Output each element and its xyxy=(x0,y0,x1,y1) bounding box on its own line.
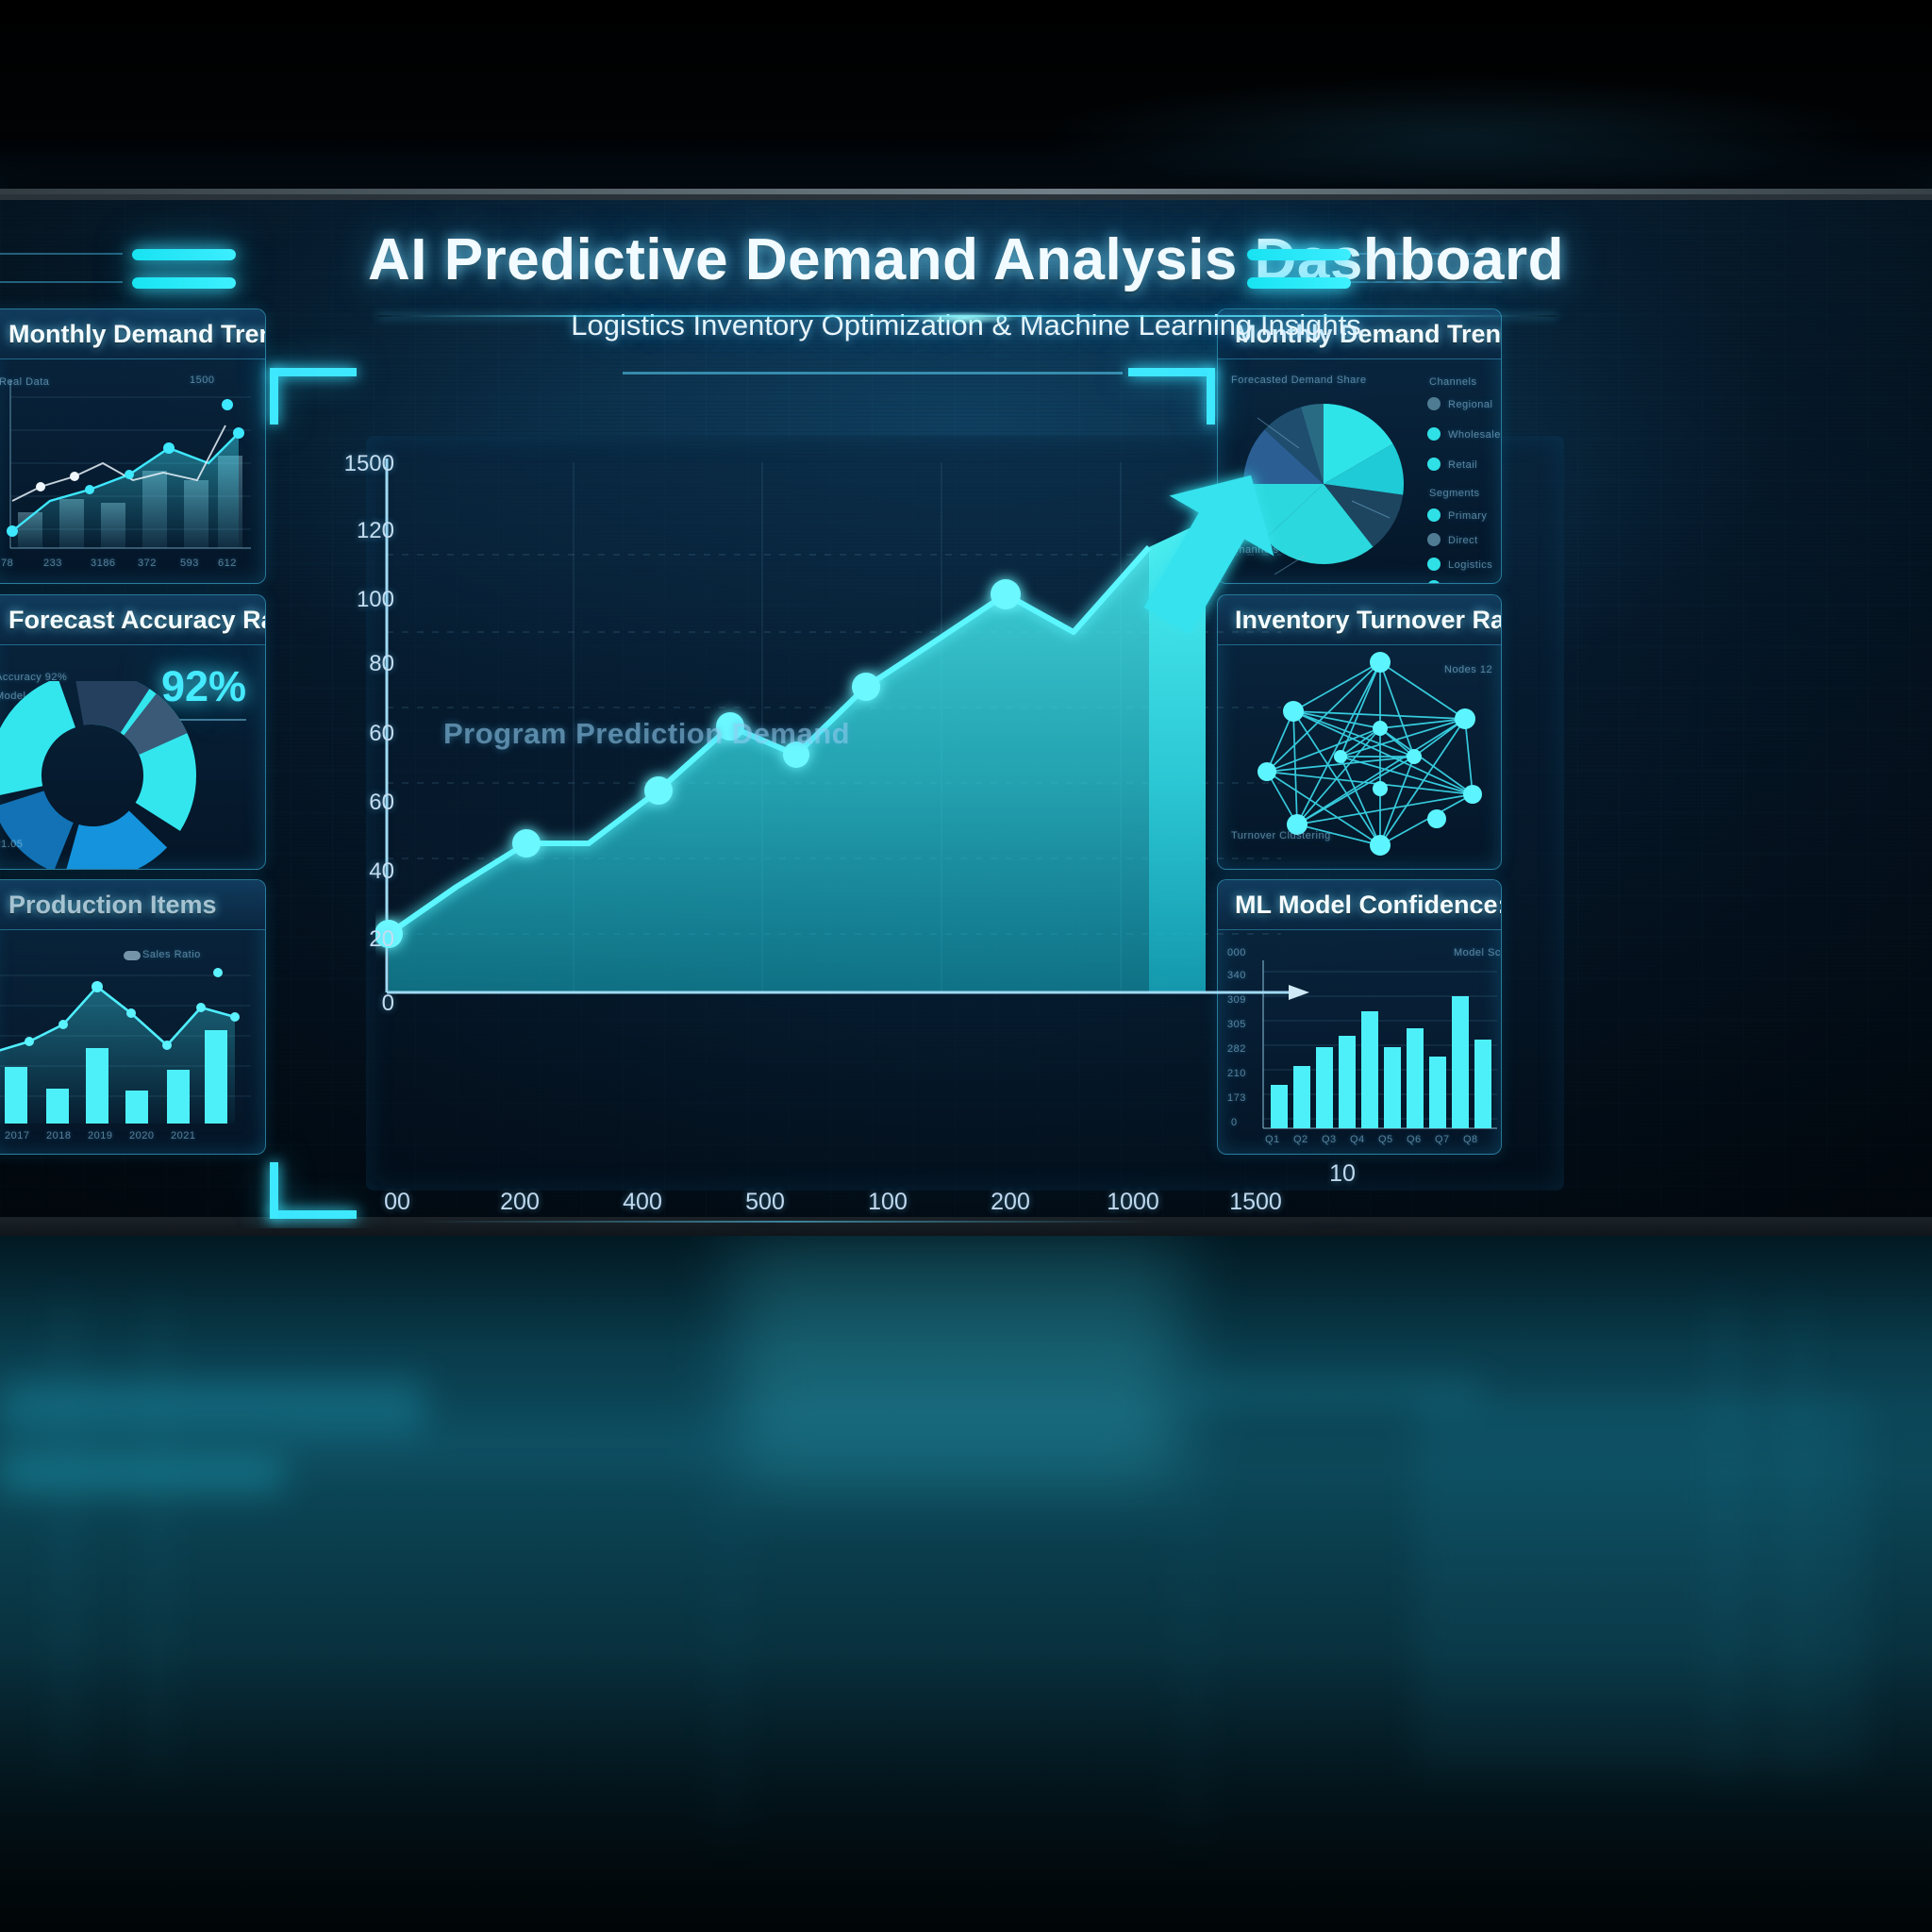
legend-item-1: Regional xyxy=(1448,399,1492,410)
legend-item-5: Direct xyxy=(1448,535,1478,546)
panel-legend-label: Real Data xyxy=(0,376,49,388)
legend-item-4: Primary xyxy=(1448,510,1487,522)
main-y-tick-4: 60 xyxy=(328,721,394,747)
donut-chart xyxy=(0,681,204,870)
main-x-tick-3: 500 xyxy=(713,1189,817,1216)
main-y-tick-6: 40 xyxy=(328,858,394,885)
panel-body: Sales Ratio xyxy=(0,930,265,1155)
x-label-4: 593 xyxy=(180,558,199,569)
main-y-tick-3: 80 xyxy=(328,651,394,677)
panel-title: Production Items xyxy=(8,891,217,920)
panel-forecast-accuracy-rate[interactable]: Forecast Accuracy Rate Accuracy 92% Mode… xyxy=(0,594,266,870)
panel-header: Forecast Accuracy Rate xyxy=(0,595,265,645)
y-label-6: 173 xyxy=(1227,1092,1246,1104)
hud-bar-left-1 xyxy=(132,249,236,260)
main-y-tick-8: 0 xyxy=(328,991,394,1017)
panel-monthly-demand-trend-left[interactable]: Monthly Demand Trend Real Data 1500 xyxy=(0,308,266,584)
legend-item-2: Wholesale xyxy=(1448,429,1501,441)
main-chart-title: Program Prediction Demand xyxy=(443,717,850,751)
legend-group-2-title: Segments xyxy=(1429,488,1480,499)
main-y-tick-5: 60 xyxy=(328,790,394,816)
panel-body: Accuracy 92% Model Stable 92% v1.05 xyxy=(0,645,265,870)
main-y-tick-1: 120 xyxy=(328,518,394,544)
x-label-0: Q1 xyxy=(1265,1134,1280,1145)
legend-dot-icon-6 xyxy=(1427,558,1441,571)
left-chart-bar-line xyxy=(0,930,265,1155)
x-label-5: 612 xyxy=(218,558,237,569)
legend-item-6: Logistics xyxy=(1448,559,1492,571)
x-label-1: Q2 xyxy=(1293,1134,1308,1145)
bezel-highlight xyxy=(0,189,1932,194)
main-x-tick-6: 1000 xyxy=(1081,1189,1185,1216)
legend-group-1-title: Channels xyxy=(1429,376,1476,388)
panel-header: Production Items xyxy=(0,880,265,930)
x-label-1: 2018 xyxy=(46,1130,71,1141)
panel-corner-value: 1500 xyxy=(190,375,214,386)
legend-dot-icon-4 xyxy=(1427,508,1441,522)
hud-bar-left-2 xyxy=(132,277,236,289)
dashboard-header: AI Predictive Demand Analysis Dashboard … xyxy=(0,226,1932,342)
legend-item-7: Other xyxy=(1448,582,1476,584)
x-label-0: 78 xyxy=(1,558,13,569)
left-chart-line-bar xyxy=(0,359,265,584)
legend-dot-icon-1 xyxy=(1427,397,1441,410)
x-label-2: 2019 xyxy=(88,1130,112,1141)
y-label-7: 0 xyxy=(1231,1117,1238,1128)
x-label-3: Q4 xyxy=(1350,1134,1365,1145)
title-glow-dot xyxy=(908,311,1021,325)
legend-swatch-icon xyxy=(124,951,141,960)
x-label-5: Q6 xyxy=(1407,1134,1422,1145)
main-x-tick-7: 1500 xyxy=(1204,1189,1307,1216)
desk-fade xyxy=(0,1236,1932,1932)
hud-bar-right-1 xyxy=(1247,249,1351,260)
panel-production-items[interactable]: Production Items Sales Ratio xyxy=(0,879,266,1155)
panel-title: Forecast Accuracy Rate xyxy=(8,606,266,635)
main-y-tick-2: 100 xyxy=(328,587,394,613)
x-label-7: Q8 xyxy=(1463,1134,1478,1145)
footer-divider xyxy=(415,1221,1160,1223)
x-label-6: Q7 xyxy=(1435,1134,1450,1145)
main-x-tick-0: 00 xyxy=(345,1189,449,1216)
main-axis-end-label: 10 xyxy=(1291,1160,1394,1188)
main-x-tick-1: 200 xyxy=(468,1189,572,1216)
legend-dot-icon-7 xyxy=(1427,580,1441,584)
main-y-tick-7: 20 xyxy=(328,926,394,953)
x-label-3: 372 xyxy=(138,558,157,569)
panel-footer-note: v1.05 xyxy=(0,839,23,850)
x-label-2: 3186 xyxy=(91,558,115,569)
legend-item-3: Retail xyxy=(1448,459,1477,471)
network-note-right: Nodes 12 xyxy=(1444,664,1492,675)
screenshot-root: AI Predictive Demand Analysis Dashboard … xyxy=(0,0,1932,1932)
bracket-top-right xyxy=(1128,368,1215,455)
x-label-3: 2020 xyxy=(129,1130,154,1141)
room-ambient-glow xyxy=(1038,75,1887,198)
x-label-4: Q5 xyxy=(1378,1134,1393,1145)
hud-bar-right-2 xyxy=(1247,277,1351,289)
x-label-1: 233 xyxy=(43,558,62,569)
main-x-tick-2: 400 xyxy=(591,1189,694,1216)
callout-top: Forecasted Demand Share xyxy=(1231,375,1367,386)
panel-legend-label: Sales Ratio xyxy=(142,949,201,960)
dashboard-screen: AI Predictive Demand Analysis Dashboard … xyxy=(0,200,1932,1228)
main-y-tick-0: 1500 xyxy=(328,451,394,477)
panel-body: Real Data 1500 xyxy=(0,359,265,584)
main-x-tick-4: 100 xyxy=(836,1189,940,1216)
y-label-5: 210 xyxy=(1227,1068,1246,1079)
bracket-top-left xyxy=(270,368,357,455)
bracket-bottom-left xyxy=(270,1162,357,1228)
main-x-tick-5: 200 xyxy=(958,1189,1062,1216)
desk-surface xyxy=(0,1236,1932,1932)
x-label-0: 2017 xyxy=(5,1130,29,1141)
legend-dot-icon-5 xyxy=(1427,533,1441,546)
bracket-top-connector xyxy=(623,372,1123,375)
legend-dot-icon-3 xyxy=(1427,458,1441,471)
x-label-4: 2021 xyxy=(171,1130,195,1141)
x-label-2: Q3 xyxy=(1322,1134,1337,1145)
legend-dot-icon-2 xyxy=(1427,427,1441,441)
page-title: AI Predictive Demand Analysis Dashboard xyxy=(0,226,1932,293)
